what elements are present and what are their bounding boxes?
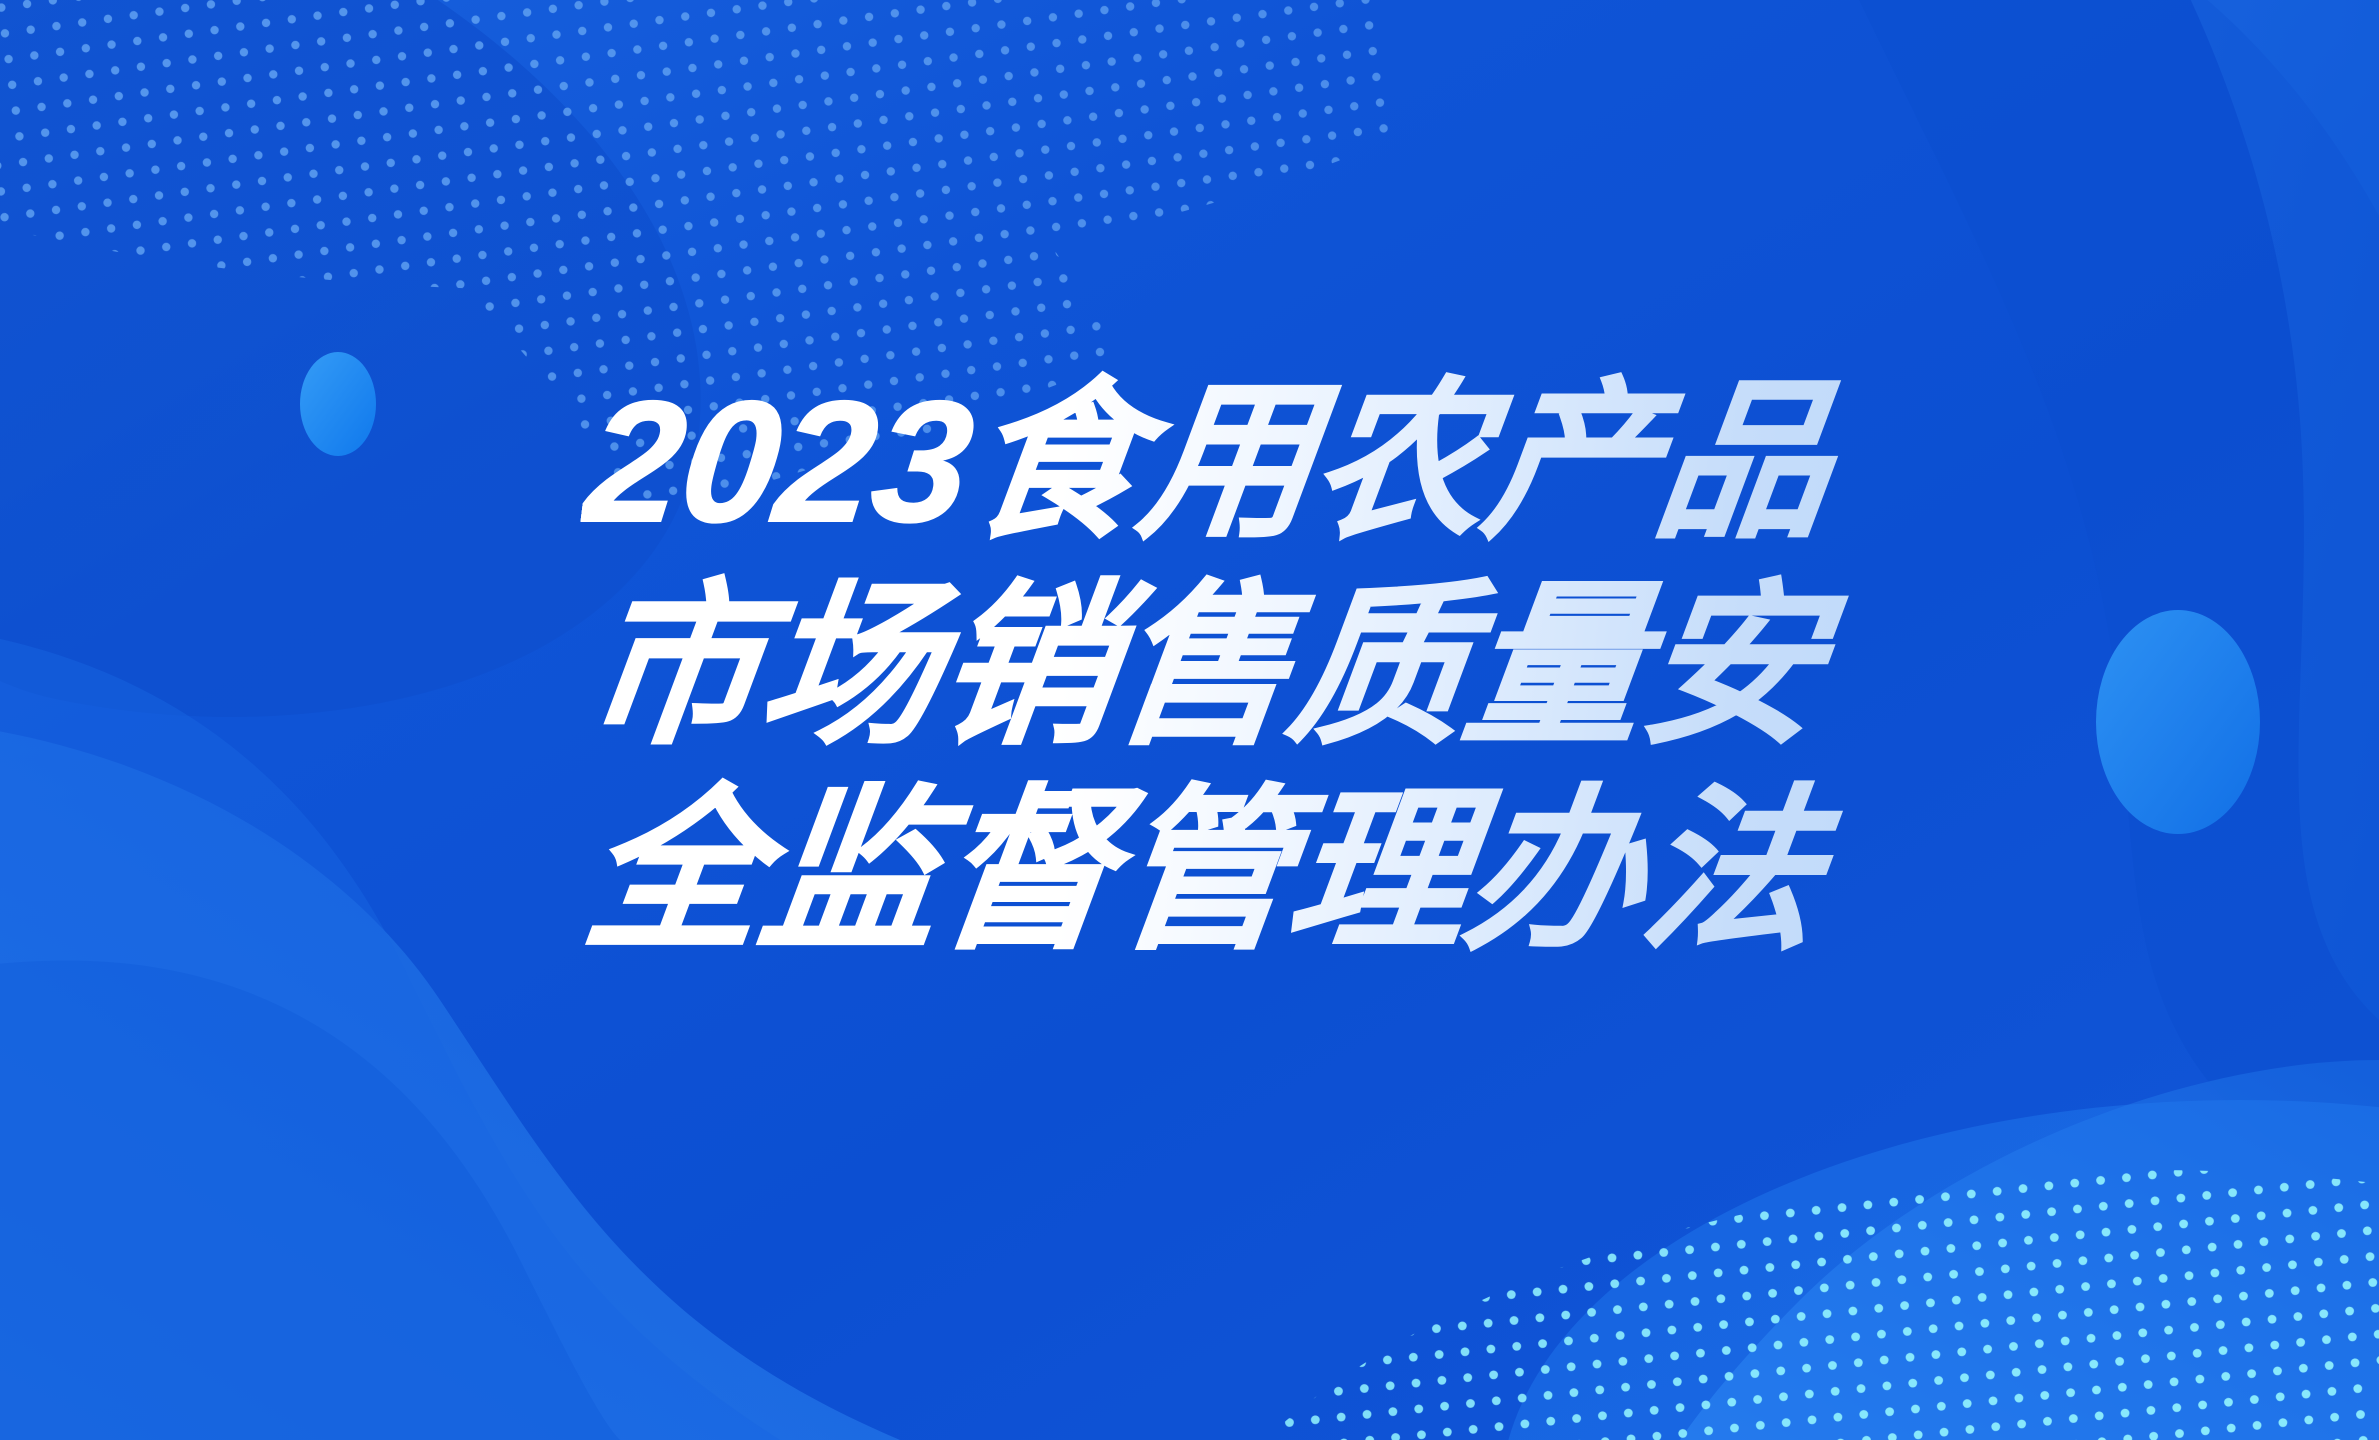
ellipse-right-large [2096, 610, 2260, 834]
dot-matrix-bottom-right [1172, 928, 2379, 1440]
ellipse-left-small [300, 352, 376, 456]
blob-top-right [1980, 0, 2379, 300]
poster-canvas: 2023食用农产品 市场销售质量安 全监督管理办法 [0, 0, 2379, 1440]
poster-title: 2023食用农产品 市场销售质量安 全监督管理办法 [575, 360, 1975, 975]
wave-center-left [0, 960, 620, 1440]
title-line-1: 2023食用农产品 [575, 360, 2000, 565]
title-line-3: 全监督管理办法 [575, 770, 2000, 975]
blob-bottom-right [1680, 1060, 2379, 1440]
title-line-2: 市场销售质量安 [575, 565, 2000, 770]
